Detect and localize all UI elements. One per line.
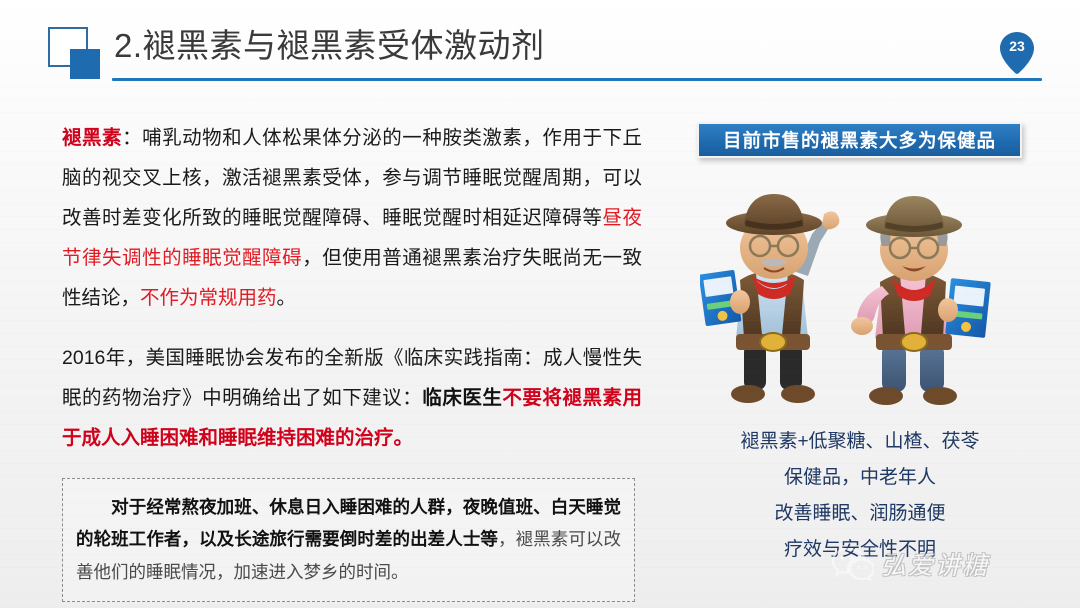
watermark-text: 弘爱讲糖 xyxy=(881,546,989,582)
two-cowboy-elders-illustration xyxy=(700,176,1022,424)
paragraph-aasm-guideline: 2016年，美国睡眠协会发布的全新版《临床实践指南：成人慢性失眠的药物治疗》中明… xyxy=(62,338,642,458)
page-number-badge: 23 xyxy=(1000,32,1034,74)
character-grandpa xyxy=(700,194,839,403)
banner-label: 目前市售的褪黑素大多为保健品 xyxy=(723,127,996,153)
paragraph1-highlight-2: 不作为常规用药 xyxy=(140,287,277,309)
logo-filled-square xyxy=(70,49,100,79)
left-text-column: 褪黑素：哺乳动物和人体松果体分泌的一种胺类激素，作用于下丘脑的视交叉上核，激活褪… xyxy=(62,118,642,458)
caption-line: 改善睡眠、润肠通便 xyxy=(680,496,1040,532)
paragraph1-segment-1: ：哺乳动物和人体松果体分泌的一种胺类激素，作用于下丘脑的视交叉上核，激活褪黑素受… xyxy=(62,127,642,229)
term-melatonin: 褪黑素 xyxy=(62,127,122,149)
page-number-text: 23 xyxy=(1000,38,1034,54)
note-dashed-box: 对于经常熬夜加班、休息日入睡困难的人群，夜晚值班、白天睡觉的轮班工作者，以及长途… xyxy=(62,478,635,602)
wechat-watermark: 弘爱讲糖 xyxy=(832,536,1062,592)
note-text: 对于经常熬夜加班、休息日入睡困难的人群，夜晚值班、白天睡觉的轮班工作者，以及长途… xyxy=(76,491,621,589)
paragraph-melatonin-definition: 褪黑素：哺乳动物和人体松果体分泌的一种胺类激素，作用于下丘脑的视交叉上核，激活褪… xyxy=(62,118,642,318)
page-title: 2.褪黑素与褪黑素受体激动剂 xyxy=(114,24,545,68)
character-grandma xyxy=(851,196,991,405)
slide-header: 2.褪黑素与褪黑素受体激动剂 23 xyxy=(0,0,1080,90)
right-panel-banner: 目前市售的褪黑素大多为保健品 xyxy=(697,122,1022,158)
caption-line: 褪黑素+低聚糖、山楂、茯苓 xyxy=(680,424,1040,460)
paragraph2-bold-clinician: 临床医生 xyxy=(422,387,502,409)
square-overlap-icon xyxy=(48,27,100,79)
wechat-bubble-icon xyxy=(832,547,874,581)
header-divider xyxy=(112,78,1042,81)
paragraph1-segment-3: 。 xyxy=(277,287,297,309)
slide-canvas: 2.褪黑素与褪黑素受体激动剂 23 褪黑素：哺乳动物和人体松果体分泌的一种胺类激… xyxy=(0,0,1080,608)
caption-line: 保健品，中老年人 xyxy=(680,460,1040,496)
